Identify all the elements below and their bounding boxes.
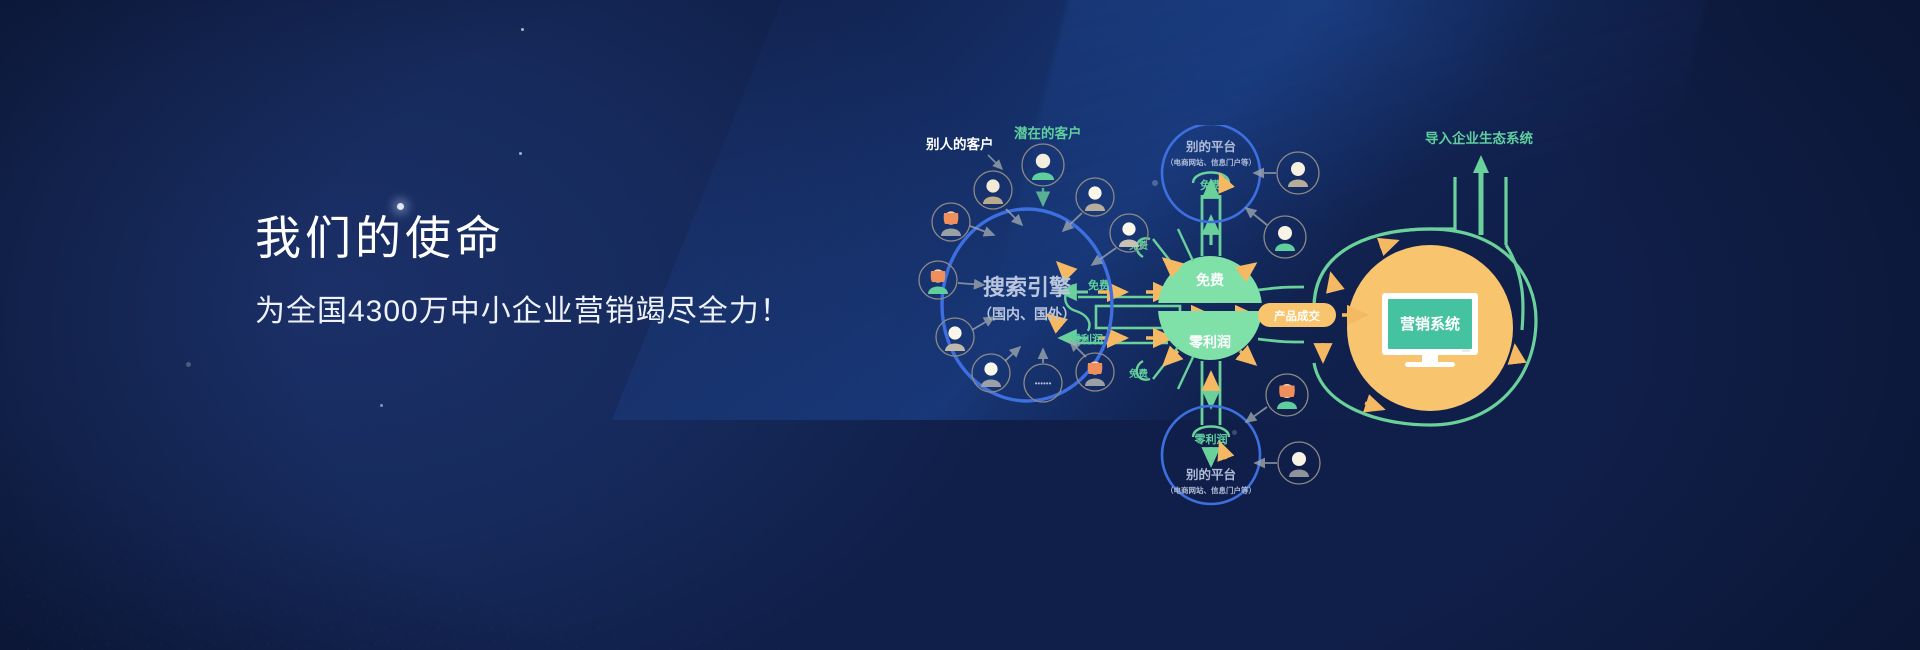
- hero-text-block: 我们的使命 为全国4300万中小企业营销竭尽全力！: [255, 215, 791, 327]
- avatar-body: [983, 197, 1003, 205]
- avatar-head: [1036, 154, 1050, 168]
- avatar-head: [1088, 186, 1101, 199]
- avatar-head: [1278, 226, 1292, 240]
- marketing-system-label: 营销系统: [1400, 315, 1460, 333]
- search-engine-sublabel: （国内、国外）: [978, 306, 1076, 322]
- avatar[interactable]: [936, 318, 974, 356]
- avatar-head: [986, 179, 999, 192]
- avatar-ellipsis-node[interactable]: ••••••: [1024, 364, 1062, 402]
- channel-label-free-upper: 免费: [1088, 278, 1110, 292]
- label-import-ecosystem: 导入企业生态系统: [1425, 130, 1533, 146]
- page-title: 我们的使命: [255, 215, 791, 261]
- avatar-head: [1122, 222, 1135, 235]
- avatar[interactable]: [1266, 374, 1308, 416]
- platform-top-label: 别的平台: [1185, 139, 1236, 154]
- branch-label-free-bottom: 免费: [1129, 368, 1149, 380]
- avatar-body: [1289, 470, 1309, 478]
- platform-top-sublabel: （电商网站、信息门户等）: [1166, 157, 1256, 167]
- avatar-body: [1085, 379, 1105, 387]
- platform-bottom-label: 别的平台: [1185, 467, 1236, 482]
- avatar[interactable]: [932, 203, 970, 241]
- avatar[interactable]: [1076, 178, 1114, 216]
- hub-label-zero-profit: 零利润: [1188, 334, 1231, 350]
- label-others-customers: 别人的客户: [925, 136, 994, 152]
- avatar[interactable]: [1278, 442, 1320, 484]
- marketing-system-node[interactable]: 营销系统: [1347, 245, 1513, 411]
- deal-badge-label: 产品成交: [1274, 309, 1320, 323]
- avatar[interactable]: [1277, 152, 1319, 194]
- avatar-hair: [1279, 386, 1295, 398]
- avatar[interactable]: [974, 171, 1012, 209]
- avatar-body: [981, 380, 1001, 388]
- monitor-stand: [1422, 355, 1438, 362]
- avatar[interactable]: [919, 261, 957, 299]
- avatar-hair: [944, 213, 959, 224]
- platform-bottom-sublabel: （电商网站、信息门户等）: [1166, 485, 1256, 495]
- avatar-head: [984, 362, 997, 375]
- monitor-indicator: [1462, 349, 1470, 352]
- avatar-body: [941, 229, 961, 237]
- avatar-head: [1291, 162, 1305, 176]
- search-engine-label: 搜索引擎: [983, 275, 1071, 300]
- avatar[interactable]: [1076, 353, 1114, 391]
- avatar-hair: [931, 271, 946, 282]
- platform-bottom-node[interactable]: 零利润 别的平台 （电商网站、信息门户等）: [1162, 406, 1260, 504]
- avatar[interactable]: [1264, 216, 1306, 258]
- avatar-body: [1277, 402, 1297, 410]
- platform-bottom-flow-label: 零利润: [1194, 432, 1228, 446]
- hub-label-free: 免费: [1196, 272, 1224, 288]
- avatar-body: [1288, 180, 1308, 188]
- ellipsis-label: ••••••: [1035, 379, 1052, 388]
- avatar-body: [1275, 244, 1295, 252]
- page-subtitle: 为全国4300万中小企业营销竭尽全力！: [255, 297, 791, 327]
- avatar[interactable]: [1022, 144, 1064, 186]
- avatar[interactable]: [1110, 214, 1148, 252]
- avatar-hair: [1088, 363, 1103, 374]
- avatar-body: [1032, 173, 1054, 181]
- avatar-body: [1085, 204, 1105, 212]
- hero-banner: 我们的使命 为全国4300万中小企业营销竭尽全力！: [0, 0, 1920, 650]
- avatar[interactable]: [972, 354, 1010, 392]
- platform-top-node[interactable]: 别的平台 （电商网站、信息门户等） 免费: [1162, 125, 1260, 222]
- label-potential-customers: 潜在的客户: [1014, 125, 1082, 141]
- avatar-head: [948, 326, 961, 339]
- marketing-ecosystem-diagram: 营销系统 免费 零利润 搜索引擎: [910, 125, 1550, 515]
- monitor-base: [1405, 362, 1455, 367]
- avatar-head: [1292, 452, 1306, 466]
